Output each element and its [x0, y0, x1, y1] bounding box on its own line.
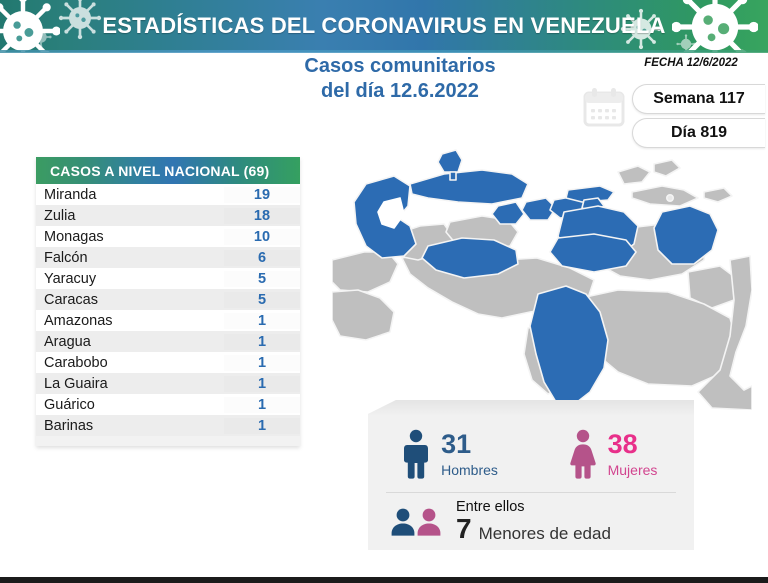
state-cases: 1	[224, 334, 300, 350]
minors-line-2: Menores de edad	[479, 524, 611, 544]
table-row: Falcón6	[36, 247, 300, 268]
male-text: 31 Hombres	[441, 431, 498, 477]
table-row: Carabobo1	[36, 352, 300, 373]
state-cases: 5	[224, 292, 300, 308]
table-row: Guárico1	[36, 394, 300, 415]
table-footer	[36, 436, 300, 446]
state-cases: 1	[224, 397, 300, 413]
infographic-page: ESTADÍSTICAS DEL CORONAVIRUS EN VENEZUEL…	[0, 0, 768, 577]
minors-line-1: Entre ellos	[456, 499, 611, 516]
table-row: Miranda19	[36, 184, 300, 205]
state-name: Carabobo	[36, 355, 224, 371]
calendar-icon	[580, 84, 628, 132]
venezuela-map	[332, 140, 752, 410]
state-name: Zulia	[36, 208, 224, 224]
state-cases: 5	[224, 271, 300, 287]
female-label: Mujeres	[608, 463, 658, 477]
female-icon	[568, 429, 598, 479]
male-stat: 31 Hombres	[368, 429, 531, 479]
state-cases: 1	[224, 313, 300, 329]
male-count: 31	[441, 431, 471, 458]
female-text: 38 Mujeres	[608, 431, 658, 477]
female-count: 38	[608, 431, 638, 458]
state-cases: 1	[224, 418, 300, 434]
male-icon	[401, 429, 431, 479]
stats-panel: 31 Hombres 38 Mujeres	[368, 400, 694, 550]
table-row: Aragua1	[36, 331, 300, 352]
state-cases: 19	[224, 187, 300, 203]
state-name: Amazonas	[36, 313, 224, 329]
two-persons-icon	[390, 506, 444, 536]
fecha-label: FECHA 12/6/2022	[618, 57, 764, 69]
state-cases: 10	[224, 229, 300, 245]
state-cases: 1	[224, 376, 300, 392]
state-cases: 18	[224, 208, 300, 224]
gender-breakdown: 31 Hombres 38 Mujeres	[368, 418, 694, 490]
state-name: Barinas	[36, 418, 224, 434]
state-name: Aragua	[36, 334, 224, 350]
state-name: Yaracuy	[36, 271, 224, 287]
female-stat: 38 Mujeres	[531, 429, 694, 479]
state-name: Caracas	[36, 292, 224, 308]
page-title: ESTADÍSTICAS DEL CORONAVIRUS EN VENEZUEL…	[0, 0, 768, 52]
state-name: Falcón	[36, 250, 224, 266]
state-cases: 1	[224, 355, 300, 371]
minors-count: 7	[456, 515, 472, 543]
state-cases: 6	[224, 250, 300, 266]
cases-table: CASOS A NIVEL NACIONAL (69) Miranda19 Zu…	[36, 157, 300, 446]
subtitle: Casos comunitarios del día 12.6.2022	[210, 54, 590, 104]
panel-top-shading	[368, 400, 694, 416]
semana-badge[interactable]: Semana 117	[632, 84, 765, 114]
state-name: La Guaira	[36, 376, 224, 392]
table-row: Monagas10	[36, 226, 300, 247]
state-name: Miranda	[36, 187, 224, 203]
table-row: Caracas5	[36, 289, 300, 310]
table-row: Barinas1	[36, 415, 300, 436]
minors-text: Entre ellos 7 Menores de edad	[456, 499, 611, 544]
state-name: Monagas	[36, 229, 224, 245]
table-row: Zulia18	[36, 205, 300, 226]
male-label: Hombres	[441, 463, 498, 477]
table-row: Amazonas1	[36, 310, 300, 331]
table-row: La Guaira1	[36, 373, 300, 394]
subtitle-line-1: Casos comunitarios	[210, 54, 590, 79]
subtitle-line-2: del día 12.6.2022	[210, 79, 590, 104]
table-row: Yaracuy5	[36, 268, 300, 289]
minors-stat: Entre ellos 7 Menores de edad	[368, 496, 694, 546]
header-banner: ESTADÍSTICAS DEL CORONAVIRUS EN VENEZUEL…	[0, 0, 768, 52]
banner-underline	[0, 50, 768, 53]
state-name: Guárico	[36, 397, 224, 413]
table-header: CASOS A NIVEL NACIONAL (69)	[36, 157, 300, 184]
panel-divider	[386, 492, 676, 493]
